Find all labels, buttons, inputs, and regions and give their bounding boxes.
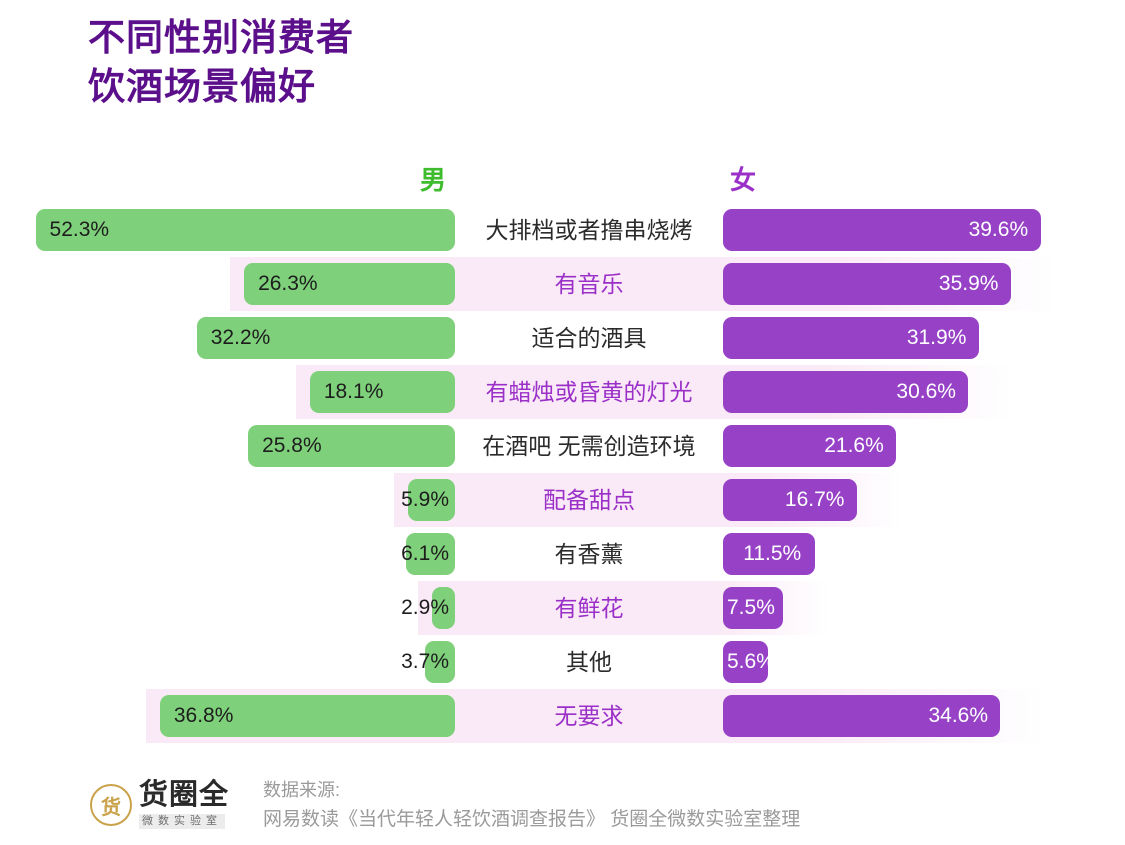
chart-row: 52.3%大排档或者撸串烧烤39.6% bbox=[0, 203, 1125, 257]
chart-row: 26.3%有音乐35.9% bbox=[0, 257, 1125, 311]
female-bar-cell: 16.7% bbox=[723, 473, 1125, 527]
source-note: 数据来源: 网易数读《当代年轻人轻饮酒调查报告》 货圈全微数实验室整理 bbox=[263, 777, 800, 834]
category-label: 大排档或者撸串烧烤 bbox=[455, 203, 723, 257]
female-bar-cell: 34.6% bbox=[723, 689, 1125, 743]
male-bar-cell: 18.1% bbox=[0, 365, 455, 419]
logo-subtitle: 微数实验室 bbox=[139, 814, 225, 829]
chart-row: 3.7%其他5.6% bbox=[0, 635, 1125, 689]
female-bar-cell: 7.5% bbox=[723, 581, 1125, 635]
chart-row: 2.9%有鲜花7.5% bbox=[0, 581, 1125, 635]
chart-row: 18.1%有蜡烛或昏黄的灯光30.6% bbox=[0, 365, 1125, 419]
category-label: 有鲜花 bbox=[455, 581, 723, 635]
female-value-label: 34.6% bbox=[928, 695, 988, 737]
male-value-label: 5.9% bbox=[401, 479, 449, 521]
category-label: 有香薰 bbox=[455, 527, 723, 581]
chart-row: 5.9%配备甜点16.7% bbox=[0, 473, 1125, 527]
chart-row: 36.8%无要求34.6% bbox=[0, 689, 1125, 743]
chart-page: 不同性别消费者 饮酒场景偏好 男 女 52.3%大排档或者撸串烧烤39.6%26… bbox=[0, 0, 1125, 845]
female-bar-cell: 30.6% bbox=[723, 365, 1125, 419]
male-value-label: 26.3% bbox=[258, 263, 318, 305]
category-label: 在酒吧 无需创造环境 bbox=[455, 419, 723, 473]
source-label: 数据来源: bbox=[263, 777, 800, 805]
logo-text: 货圈全 微数实验室 bbox=[139, 781, 229, 829]
male-value-label: 36.8% bbox=[174, 695, 234, 737]
male-value-label: 6.1% bbox=[401, 533, 449, 575]
male-bar-cell: 2.9% bbox=[0, 581, 455, 635]
category-label: 有蜡烛或昏黄的灯光 bbox=[455, 365, 723, 419]
female-bar-cell: 11.5% bbox=[723, 527, 1125, 581]
male-value-label: 32.2% bbox=[211, 317, 271, 359]
male-bar-cell: 26.3% bbox=[0, 257, 455, 311]
legend-label-female: 女 bbox=[703, 160, 783, 197]
male-value-label: 3.7% bbox=[401, 641, 449, 683]
female-value-label: 21.6% bbox=[824, 425, 884, 467]
category-label: 其他 bbox=[455, 635, 723, 689]
chart-row: 32.2%适合的酒具31.9% bbox=[0, 311, 1125, 365]
category-label: 适合的酒具 bbox=[455, 311, 723, 365]
male-bar-cell: 5.9% bbox=[0, 473, 455, 527]
female-bar-cell: 31.9% bbox=[723, 311, 1125, 365]
source-detail: 网易数读《当代年轻人轻饮酒调查报告》 货圈全微数实验室整理 bbox=[263, 805, 800, 834]
female-value-label: 11.5% bbox=[743, 533, 801, 575]
female-value-label: 7.5% bbox=[727, 587, 775, 629]
female-value-label: 35.9% bbox=[939, 263, 999, 305]
male-bar-cell: 52.3% bbox=[0, 203, 455, 257]
male-value-label: 18.1% bbox=[324, 371, 384, 413]
logo-circle-icon: 货 bbox=[90, 784, 132, 826]
legend-label-male: 男 bbox=[393, 160, 473, 197]
category-label: 有音乐 bbox=[455, 257, 723, 311]
brand-logo: 货 货圈全 微数实验室 bbox=[90, 781, 229, 829]
male-value-label: 2.9% bbox=[401, 587, 449, 629]
page-title: 不同性别消费者 饮酒场景偏好 bbox=[88, 14, 354, 112]
female-bar-cell: 35.9% bbox=[723, 257, 1125, 311]
female-bar-cell: 21.6% bbox=[723, 419, 1125, 473]
male-bar-cell: 36.8% bbox=[0, 689, 455, 743]
chart-row: 6.1%有香薰11.5% bbox=[0, 527, 1125, 581]
category-label: 无要求 bbox=[455, 689, 723, 743]
logo-name: 货圈全 bbox=[139, 781, 229, 810]
male-bar-cell: 32.2% bbox=[0, 311, 455, 365]
female-value-label: 5.6% bbox=[727, 641, 775, 683]
female-value-label: 31.9% bbox=[907, 317, 967, 359]
footer: 货 货圈全 微数实验室 数据来源: 网易数读《当代年轻人轻饮酒调查报告》 货圈全… bbox=[0, 775, 1125, 845]
female-bar-cell: 5.6% bbox=[723, 635, 1125, 689]
male-bar-cell: 25.8% bbox=[0, 419, 455, 473]
male-value-label: 25.8% bbox=[262, 425, 322, 467]
chart-rows: 52.3%大排档或者撸串烧烤39.6%26.3%有音乐35.9%32.2%适合的… bbox=[0, 203, 1125, 743]
female-value-label: 16.7% bbox=[785, 479, 845, 521]
male-bar-cell: 6.1% bbox=[0, 527, 455, 581]
female-value-label: 30.6% bbox=[896, 371, 956, 413]
female-bar-cell: 39.6% bbox=[723, 203, 1125, 257]
male-value-label: 52.3% bbox=[50, 209, 110, 251]
male-bar-cell: 3.7% bbox=[0, 635, 455, 689]
chart-row: 25.8%在酒吧 无需创造环境21.6% bbox=[0, 419, 1125, 473]
female-value-label: 39.6% bbox=[969, 209, 1029, 251]
category-label: 配备甜点 bbox=[455, 473, 723, 527]
